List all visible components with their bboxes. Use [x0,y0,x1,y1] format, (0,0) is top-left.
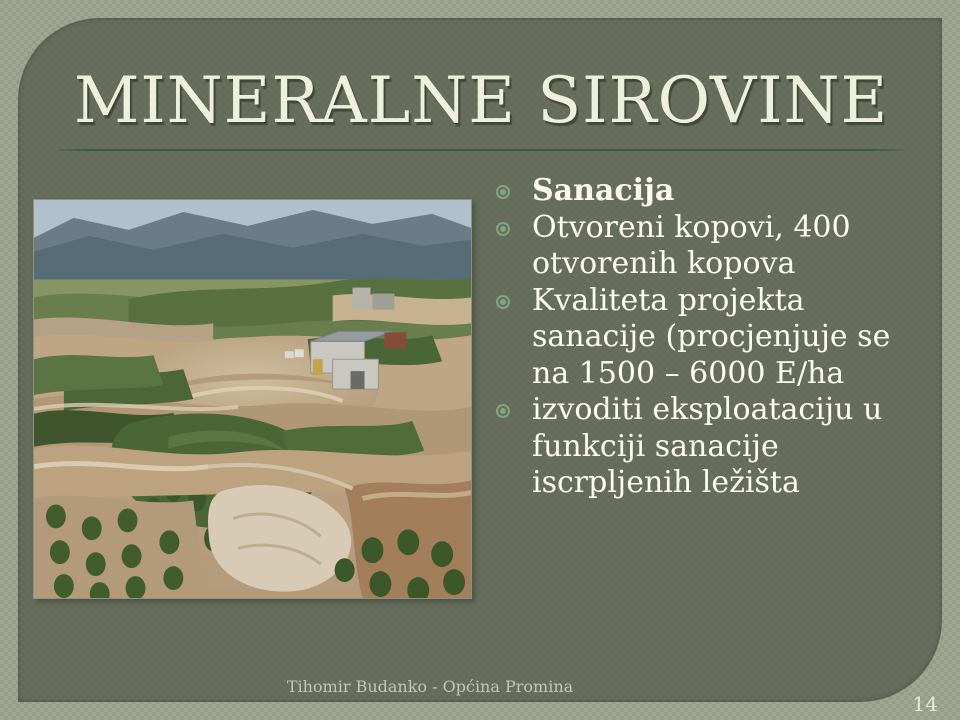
bullet-point-icon [496,222,510,236]
list-item-label: Sanacija [532,173,674,208]
list-item-label: izvoditi eksploataciju u funkciji sanaci… [532,392,882,500]
bullet-list: Sanacija Otvoreni kopovi, 400 otvorenih … [494,173,926,502]
slide: MINERALNE SIROVINE [0,0,960,720]
quarry-photo [33,199,472,599]
bullet-content: Sanacija Otvoreni kopovi, 400 otvorenih … [494,173,926,502]
list-item: Otvoreni kopovi, 400 otvorenih kopova [494,210,926,283]
slide-footer: Tihomir Budanko - Općina Promina [0,676,860,698]
bullet-point-icon [496,295,510,309]
quarry-photo-illustration [34,200,471,598]
page-number: 14 [913,692,938,716]
bullet-point-icon [496,404,510,418]
bullet-point-icon [496,185,510,199]
list-item: Sanacija [494,173,926,210]
list-item: Kvaliteta projekta sanacije (procjenjuje… [494,283,926,393]
list-item-label: Kvaliteta projekta sanacije (procjenjuje… [532,283,890,391]
page-title: MINERALNE SIROVINE [57,62,905,140]
title-divider [57,149,905,151]
list-item: izvoditi eksploataciju u funkciji sanaci… [494,392,926,502]
list-item-label: Otvoreni kopovi, 400 otvorenih kopova [532,210,851,282]
